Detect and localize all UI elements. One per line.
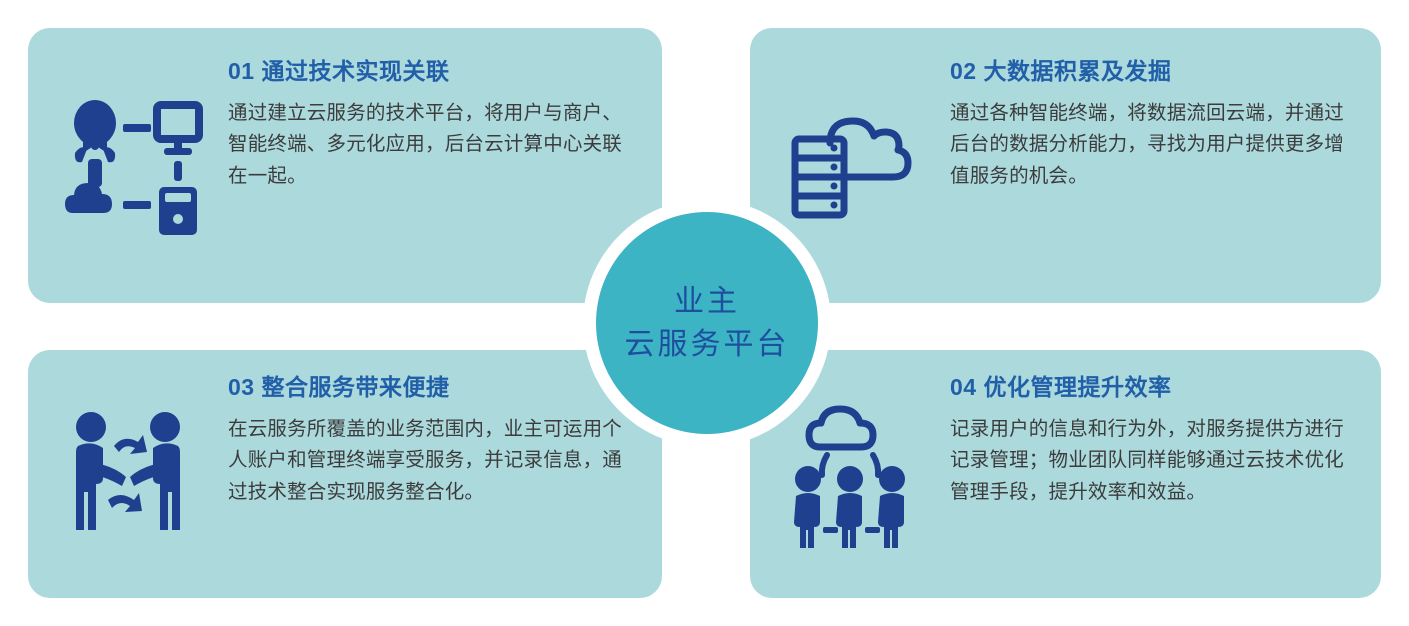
card-heading-03: 03 整合服务带来便捷	[228, 374, 636, 402]
infographic-canvas: 01 通过技术实现关联 通过建立云服务的技术平台，将用户与商户、智能终端、多元化…	[0, 0, 1409, 626]
text-box-01: 01 通过技术实现关联 通过建立云服务的技术平台，将用户与商户、智能终端、多元化…	[228, 28, 662, 192]
card-01[interactable]: 01 通过技术实现关联 通过建立云服务的技术平台，将用户与商户、智能终端、多元化…	[28, 28, 662, 303]
text-box-04: 04 优化管理提升效率 记录用户的信息和行为外，对服务提供方进行记录管理；物业团…	[950, 350, 1381, 508]
center-hub-line-1: 业主	[674, 280, 740, 324]
card-03[interactable]: 03 整合服务带来便捷 在云服务所覆盖的业务范围内，业主可运用个人账户和管理终端…	[28, 350, 662, 598]
two-people-handshake-exchange-icon	[58, 404, 198, 544]
card-heading-02: 02 大数据积累及发掘	[950, 58, 1355, 86]
text-box-02: 02 大数据积累及发掘 通过各种智能终端，将数据流回云端，并通过后台的数据分析能…	[950, 28, 1381, 192]
card-02[interactable]: 02 大数据积累及发掘 通过各种智能终端，将数据流回云端，并通过后台的数据分析能…	[750, 28, 1381, 303]
server-rack-cloud-icon	[775, 91, 925, 241]
card-body-02: 通过各种智能终端，将数据流回云端，并通过后台的数据分析能力，寻找为用户提供更多增…	[950, 98, 1355, 193]
card-heading-04: 04 优化管理提升效率	[950, 374, 1355, 402]
icon-box-03	[28, 350, 228, 598]
card-body-01: 通过建立云服务的技术平台，将用户与商户、智能终端、多元化应用，后台云计算中心关联…	[228, 98, 636, 193]
card-heading-01: 01 通过技术实现关联	[228, 58, 636, 86]
person-monitor-cloud-tower-network-icon	[53, 91, 203, 241]
center-hub[interactable]: 业主 云服务平台	[596, 212, 818, 434]
card-body-03: 在云服务所覆盖的业务范围内，业主可运用个人账户和管理终端享受服务，并记录信息，通…	[228, 414, 636, 509]
icon-box-01	[28, 28, 228, 303]
card-body-04: 记录用户的信息和行为外，对服务提供方进行记录管理；物业团队同样能够通过云技术优化…	[950, 414, 1355, 509]
three-people-cloud-icon	[775, 399, 925, 549]
card-04[interactable]: 04 优化管理提升效率 记录用户的信息和行为外，对服务提供方进行记录管理；物业团…	[750, 350, 1381, 598]
center-hub-line-2: 云服务平台	[625, 323, 790, 367]
